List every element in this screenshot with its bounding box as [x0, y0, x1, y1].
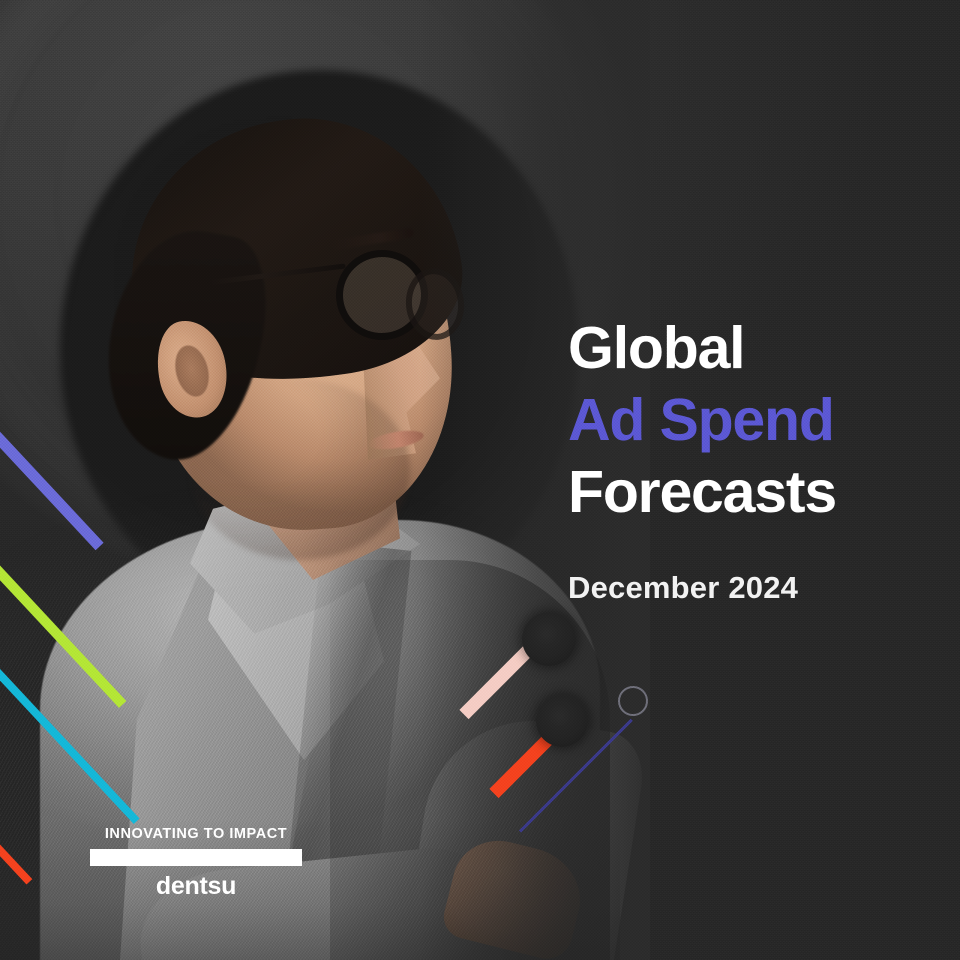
dentsu-logo-lockup: INNOVATING TO IMPACT dentsu: [90, 826, 302, 901]
subject-photo: [0, 0, 620, 960]
title-line-1: Global: [568, 312, 948, 384]
dot-filled-lower: [536, 695, 588, 747]
dot-ring: [618, 686, 648, 716]
title-line-3: Forecasts: [568, 456, 948, 528]
subtitle-date: December 2024: [568, 570, 948, 606]
logo-wordmark: dentsu: [90, 872, 302, 901]
title-line-2: Ad Spend: [568, 384, 948, 456]
poster-canvas: Global Ad Spend Forecasts December 2024 …: [0, 0, 960, 960]
dot-filled-upper: [522, 612, 576, 666]
logo-divider-bar: [90, 849, 302, 866]
logo-tagline: INNOVATING TO IMPACT: [90, 826, 302, 842]
title-block: Global Ad Spend Forecasts December 2024: [568, 312, 948, 606]
